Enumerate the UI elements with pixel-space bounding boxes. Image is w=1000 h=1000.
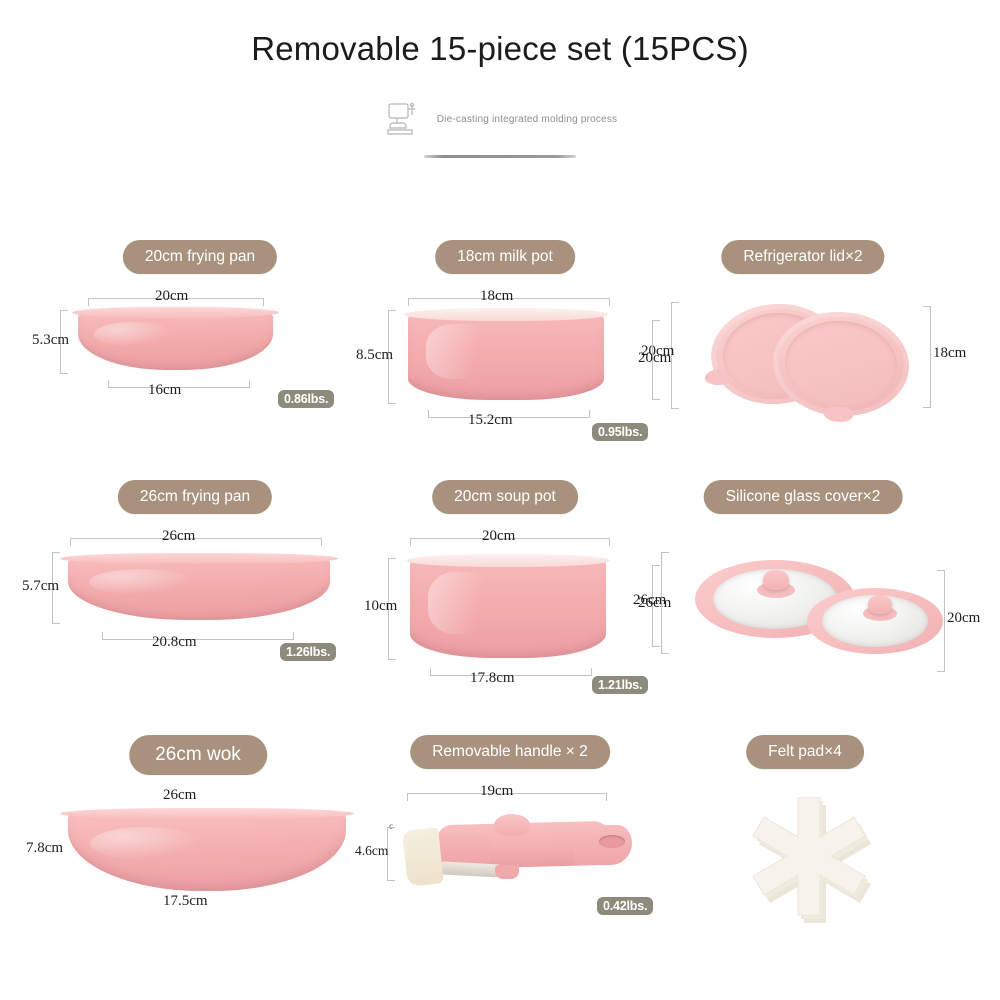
item-soup-pot-20: 20cm soup pot 20cm 10cm 17.8cm 1.21lbs. bbox=[370, 480, 670, 695]
dim-bottom-label: 17.8cm bbox=[470, 670, 515, 687]
pot-highlight bbox=[426, 324, 493, 379]
glass-cover-small bbox=[807, 588, 943, 654]
lid-knob bbox=[763, 570, 789, 590]
lid-tab bbox=[823, 405, 854, 423]
weight-badge: 0.95lbs. bbox=[592, 423, 648, 441]
pan-highlight bbox=[94, 322, 172, 346]
process-note-row: Die-casting integrated molding process bbox=[0, 100, 1000, 138]
dim-top-label: 26cm bbox=[162, 528, 195, 545]
dim-right-label: 20cm bbox=[947, 610, 980, 627]
dim-bracket-bottom bbox=[102, 632, 294, 640]
item-label-badge: 20cm soup pot bbox=[432, 480, 578, 514]
item-label-badge: Refrigerator lid×2 bbox=[721, 240, 884, 274]
removable-handle-image bbox=[399, 813, 649, 893]
pan-rim bbox=[72, 307, 279, 318]
wok-26-image bbox=[68, 813, 346, 891]
item-label-badge: 20cm frying pan bbox=[123, 240, 277, 274]
item-label-badge: 18cm milk pot bbox=[435, 240, 575, 274]
pot-highlight bbox=[428, 572, 495, 634]
dim-label: 20cm bbox=[638, 350, 671, 367]
pan-rim bbox=[60, 553, 338, 564]
dim-bracket-right bbox=[937, 570, 945, 672]
lid-knob bbox=[868, 595, 892, 614]
dim-bracket-right bbox=[923, 306, 931, 408]
header-divider bbox=[424, 155, 576, 158]
handle-release-button bbox=[494, 814, 530, 836]
handle-hanging-hole bbox=[599, 835, 625, 848]
weight-badge: 0.42lbs. bbox=[597, 897, 653, 915]
handle-metal-plate bbox=[441, 861, 504, 877]
dim-top-label: 20cm bbox=[482, 528, 515, 545]
item-removable-handle: Removable handle × 2 19cm c 4.6cm 0.42lb… bbox=[375, 735, 675, 920]
die-casting-machine-icon bbox=[383, 100, 423, 138]
page-title: Removable 15-piece set (15PCS) bbox=[0, 30, 1000, 68]
process-note-text: Die-casting integrated molding process bbox=[437, 114, 617, 125]
dim-left-label: 26cm bbox=[633, 592, 666, 609]
dim-bottom-label: 17.5cm bbox=[163, 893, 208, 910]
dim-left-label: 7.8cm bbox=[26, 840, 63, 857]
item-frying-pan-26: 26cm frying pan 26cm 5.7cm 20.8cm 1.26lb… bbox=[40, 480, 380, 680]
product-infographic: Removable 15-piece set (15PCS) Die-casti… bbox=[0, 0, 1000, 1000]
item-milk-pot-18: 18cm milk pot 18cm 8.5cm 15.2cm 0.95lbs. bbox=[370, 240, 670, 445]
handle-lug bbox=[495, 865, 519, 879]
dim-left-label: 5.7cm bbox=[22, 578, 59, 595]
dim-right-label: 18cm bbox=[933, 345, 966, 362]
item-felt-pad: Felt pad×4 bbox=[690, 735, 950, 920]
weight-badge: 1.21lbs. bbox=[592, 676, 648, 694]
pan-highlight bbox=[89, 569, 194, 595]
item-silicone-glass-cover: Silicone glass cover×2 26cm 20cm bbox=[655, 480, 990, 680]
item-label-badge: Removable handle × 2 bbox=[410, 735, 610, 769]
item-wok-26: 26cm wok 26cm 7.8cm 17.5cm bbox=[30, 735, 380, 920]
dim-top-label: 20cm bbox=[155, 288, 188, 305]
soup-pot-20-image bbox=[410, 558, 606, 658]
dim-bottom-label: 20.8cm bbox=[152, 634, 197, 651]
handle-clamp-pad bbox=[402, 827, 444, 886]
felt-pad-flower-shape bbox=[738, 797, 888, 927]
dim-bottom-label: 16cm bbox=[148, 382, 181, 399]
item-refrigerator-lid: Refrigerator lid×2 20cm 18cm bbox=[655, 240, 985, 430]
dim-left-label: 5.3cm bbox=[32, 332, 69, 349]
item-label-badge: Silicone glass cover×2 bbox=[704, 480, 903, 514]
felt-pad-image bbox=[738, 797, 888, 927]
dim-bracket-top bbox=[70, 538, 322, 546]
item-label-badge: Felt pad×4 bbox=[746, 735, 864, 769]
dim-bottom-label: 15.2cm bbox=[468, 412, 513, 429]
dim-left-label: 8.5cm bbox=[356, 347, 393, 364]
wok-highlight bbox=[90, 827, 201, 860]
item-label-badge: 26cm frying pan bbox=[118, 480, 272, 514]
item-label-badge: 26cm wok bbox=[129, 735, 267, 775]
wok-rim bbox=[60, 808, 355, 819]
dim-top-label: 26cm bbox=[163, 787, 196, 804]
weight-badge: 0.86lbs. bbox=[278, 390, 334, 408]
frying-pan-26-image bbox=[68, 558, 330, 620]
milk-pot-18-image bbox=[408, 312, 604, 400]
lid-tab bbox=[704, 368, 735, 387]
item-frying-pan-20: 20cm frying pan 20cm 5.3cm 16cm 0.86lbs. bbox=[40, 240, 360, 425]
dim-top-label: 18cm bbox=[480, 288, 513, 305]
dim-top-label: 19cm bbox=[480, 783, 513, 800]
frying-pan-20-image bbox=[78, 312, 273, 370]
pot-rim-band bbox=[406, 554, 610, 567]
milk-pot-right-dim: 20cm bbox=[640, 320, 700, 410]
pot-rim-band bbox=[404, 308, 608, 321]
weight-badge: 1.26lbs. bbox=[280, 643, 336, 661]
dim-left-label: 10cm bbox=[364, 598, 397, 615]
dim-left-label: 4.6cm bbox=[355, 843, 388, 859]
